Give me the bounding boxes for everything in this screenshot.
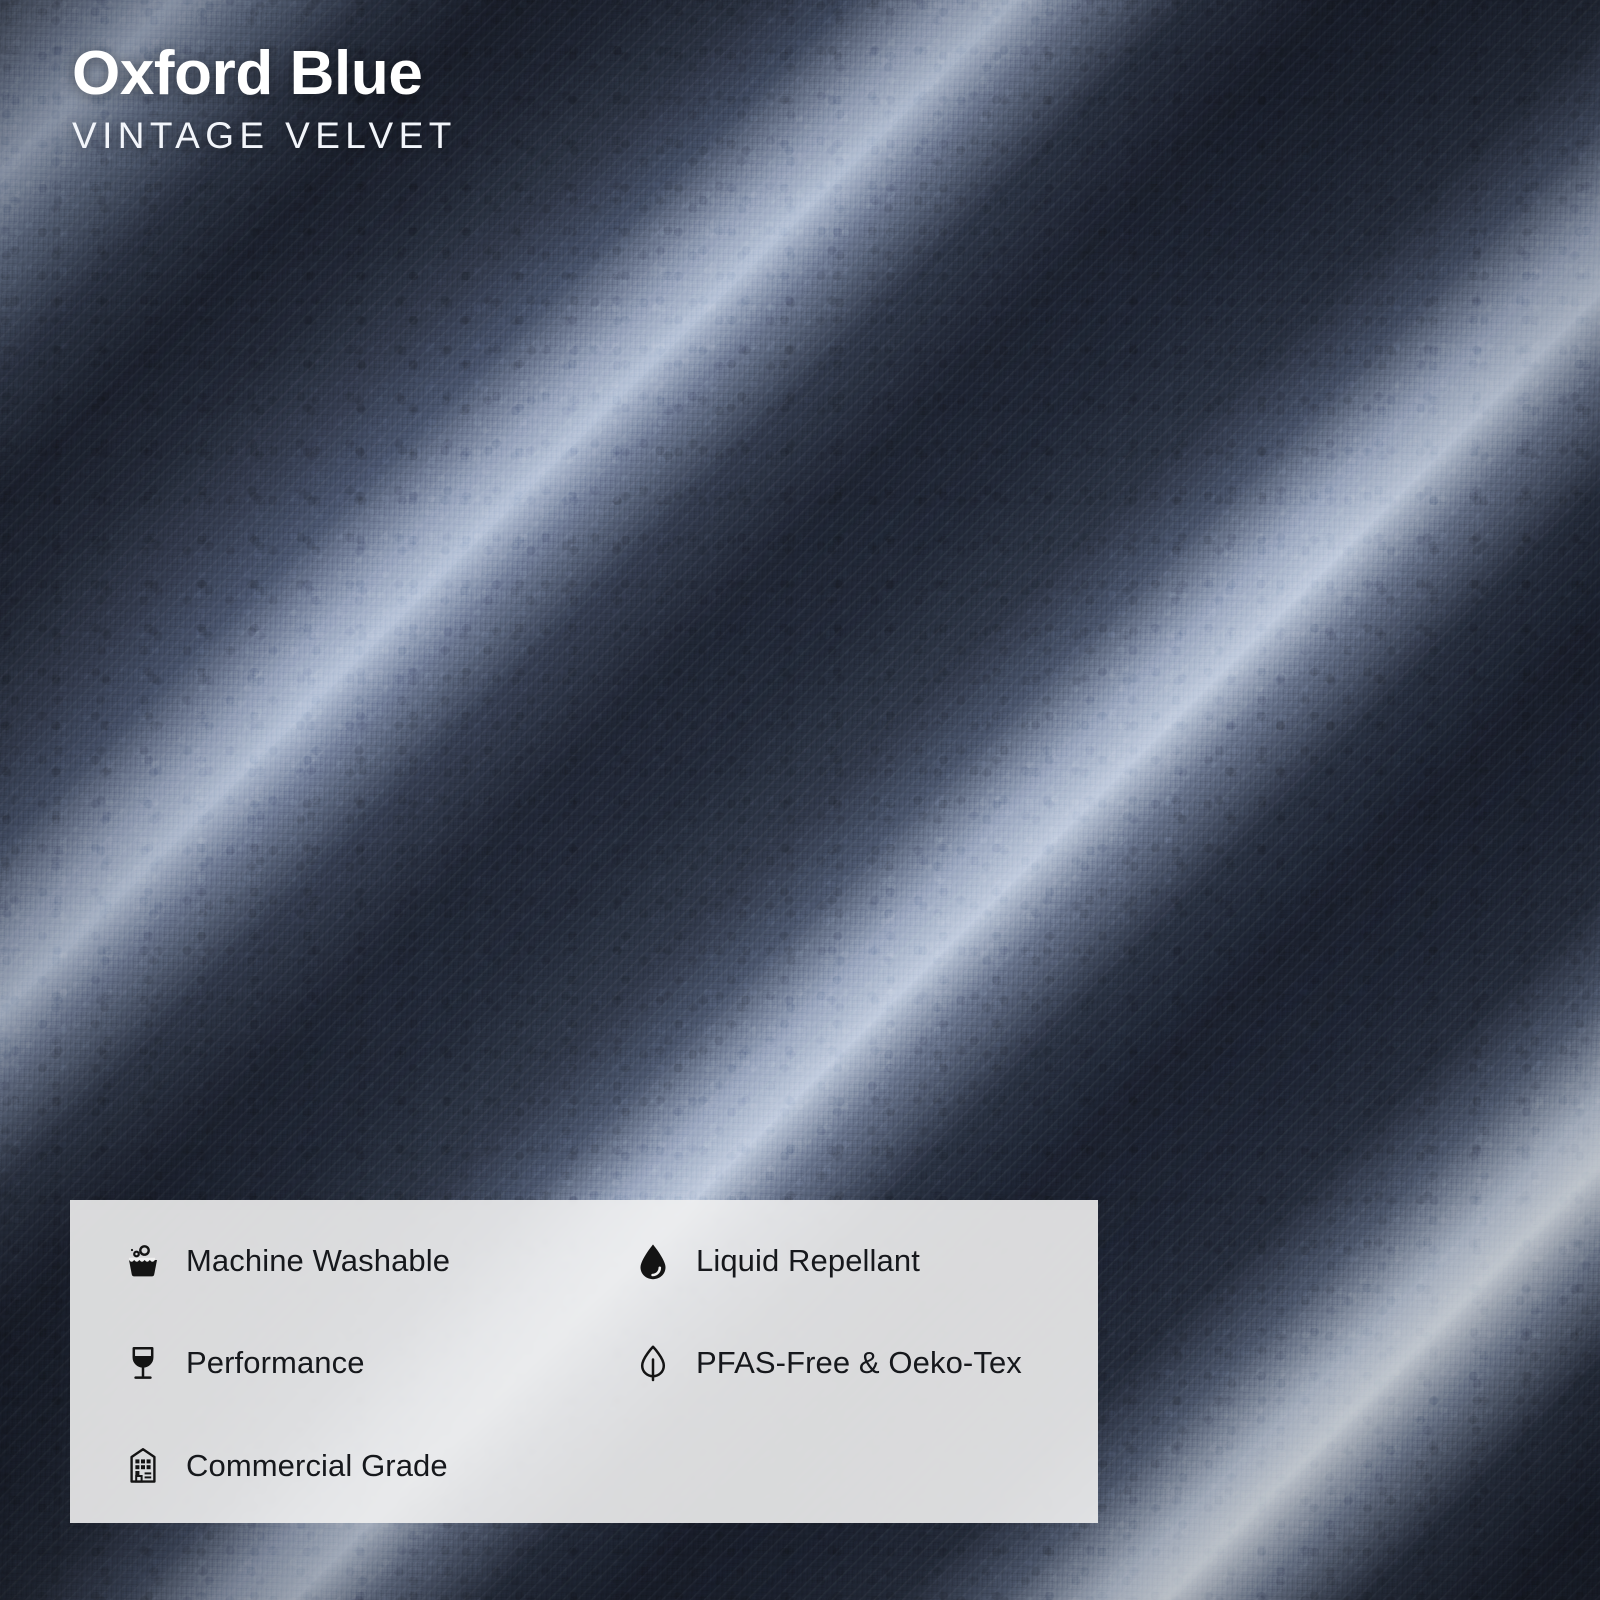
- water-drop-icon: [632, 1240, 674, 1282]
- feature-panel: Machine Washable Liquid Repellant: [70, 1200, 1098, 1523]
- leaf-icon: [632, 1342, 674, 1384]
- feature-liquid-repellant: Liquid Repellant: [580, 1210, 1098, 1312]
- feature-performance: Performance: [70, 1312, 580, 1414]
- feature-label: PFAS-Free & Oeko-Tex: [696, 1345, 1022, 1381]
- wine-glass-icon: [122, 1342, 164, 1384]
- feature-commercial-grade: Commercial Grade: [70, 1415, 580, 1517]
- feature-pfas-free-oeko-tex: PFAS-Free & Oeko-Tex: [580, 1312, 1098, 1414]
- fabric-swatch-card: Oxford Blue VINTAGE VELVET Machine Washa…: [0, 0, 1600, 1600]
- feature-label: Liquid Repellant: [696, 1243, 920, 1279]
- feature-label: Machine Washable: [186, 1243, 450, 1279]
- color-name: Oxford Blue: [72, 42, 457, 105]
- washing-tub-icon: [122, 1240, 164, 1282]
- building-icon: [122, 1445, 164, 1487]
- material-name: VINTAGE VELVET: [72, 117, 457, 156]
- feature-label: Performance: [186, 1345, 365, 1381]
- feature-machine-washable: Machine Washable: [70, 1210, 580, 1312]
- swatch-title-block: Oxford Blue VINTAGE VELVET: [72, 42, 457, 156]
- feature-label: Commercial Grade: [186, 1448, 448, 1484]
